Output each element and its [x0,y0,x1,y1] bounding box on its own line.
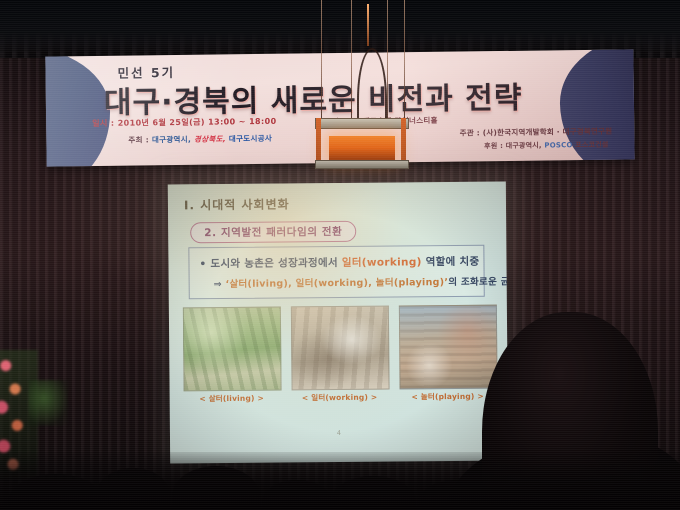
foreground-shadow [0,452,680,510]
rig-frame-left [316,118,321,166]
rig-wire-left [321,0,322,126]
banner-datetime: 일시 : 2010년 6월 25일(금) 13:00 ~ 18:00 [92,116,276,129]
banner-host-label: 주최 : [128,135,149,144]
slide-bullet-1: • 도시와 농촌은 성장과정에서 일터(working) 역할에 치중 [199,254,479,271]
slide-section-pill: 2. 지역발전 패러다임의 전환 [190,221,356,243]
rig-frame-right [401,118,406,166]
banner-sponsor-suffix: 포스코건설 [575,141,608,149]
slide-photo-playing [399,305,498,390]
banner-host-3: 대구도시공사 [229,134,272,144]
slide-bullet-2: ⇒ ‘살터(living), 일터(working), 놀터(playing)’… [214,273,509,290]
banner-sponsors: 후원 : 대구광역시, POSCO 포스코건설 [484,140,608,152]
rig-base-bar [315,160,409,169]
slide-bullet-1-pre: • 도시와 농촌은 성장과정에서 [199,257,341,270]
slide-bullet-2-post: 의 조화로운 균형 [448,276,508,288]
conference-hall-photo: 민선 5기 대구·경북의 새로운 비전과 전략 일시 : 2010년 6월 25… [0,0,680,510]
slide-bullet-2-highlight: ‘살터(living), 일터(working), 놀터(playing)’ [225,277,448,290]
slide-page-number: 4 [337,429,341,437]
slide-bullet-1-post: 역할에 치중 [422,256,480,269]
banner-organizer: 주관 : (사)한국지역개발학회 · 대구경북연구원 [460,126,613,139]
slide-photo-strip: < 살터(living) > < 일터(working) > < 놀터(play… [183,305,496,408]
projection-screen: Ⅰ. 시대적 사회변화 2. 지역발전 패러다임의 전환 • 도시와 농촌은 성… [168,182,508,464]
rig-wire-mid-right [387,0,388,126]
hanging-stage-light-rig [305,0,415,180]
slide-bullet-2-pre: ⇒ [214,279,226,290]
rig-wire-mid-left [351,0,352,126]
stage-foliage [28,380,68,426]
rig-wire-right [404,0,405,126]
slide-bullet-1-highlight: 일터(working) [342,256,422,269]
slide-photo-caption-playing: < 놀터(playing) > [400,391,496,403]
rig-top-bar [315,118,409,129]
rig-power-cable [357,48,387,122]
banner-host-1: 대구광역시, [152,135,191,144]
rig-lamp-housing [329,136,395,160]
slide-photo-living [183,306,282,391]
slide-content-box: • 도시와 농촌은 성장과정에서 일터(working) 역할에 치중 ⇒ ‘살… [188,245,484,300]
banner-host-2: 경상북도, [194,134,226,143]
rig-drop-rod [367,4,369,46]
slide-photo-working [291,306,390,391]
banner-swoosh-left [45,49,111,166]
slide-heading: Ⅰ. 시대적 사회변화 [184,195,290,213]
banner-hosts: 주최 : 대구광역시, 경상북도, 대구도시공사 [128,133,272,146]
slide-photo-caption-living: < 살터(living) > [184,393,280,405]
banner-sponsor-prefix: 후원 : 대구광역시, [484,142,542,151]
slide-photo-caption-working: < 일터(working) > [292,392,388,404]
banner-sponsor-brand: POSCO [544,141,572,149]
